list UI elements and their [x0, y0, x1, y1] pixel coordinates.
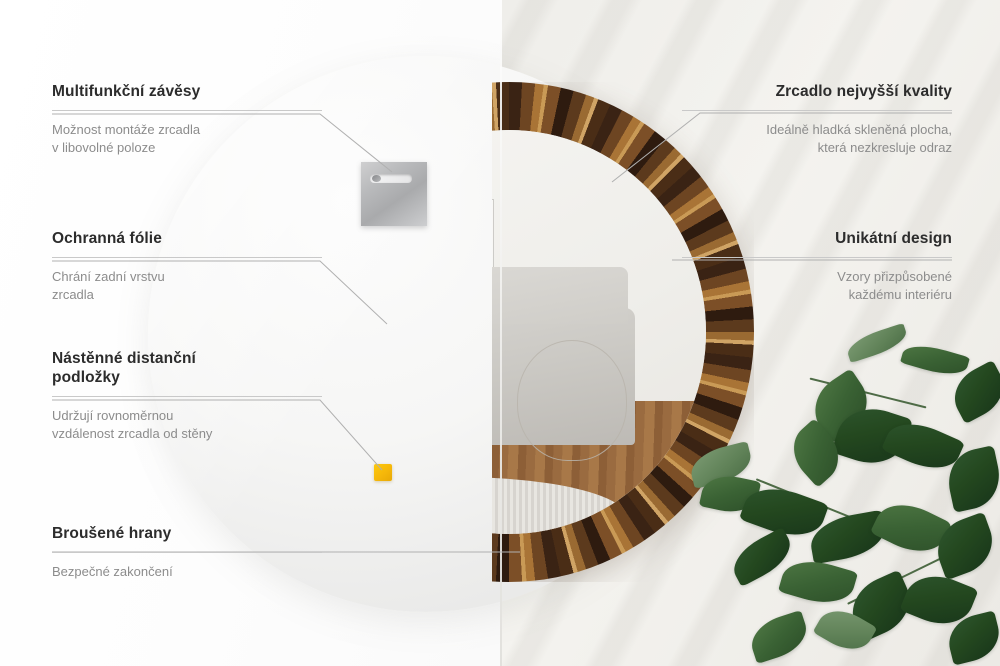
- callout-title: Ochranná fólie: [52, 229, 322, 248]
- callout-brousene-hrany: Broušené hrany Bezpečné zakončení: [52, 524, 322, 581]
- mirror-glass: [492, 130, 706, 534]
- infographic-canvas: Multifunkční závěsy Možnost montáže zrca…: [0, 0, 1000, 666]
- callout-body: Chrání zadní vrstvu zrcadla: [52, 268, 322, 304]
- callout-body-line-2: vzdálenost zrcadla od stěny: [52, 426, 212, 441]
- callout-body: Vzory přizpůsobené každému interiéru: [682, 268, 952, 304]
- callout-body-line-1: Bezpečné zakončení: [52, 564, 173, 579]
- callout-body-line-1: Ideálně hladká skleněná plocha,: [766, 122, 952, 137]
- callout-body-line-2: zrcadla: [52, 287, 94, 302]
- reflected-chair-outline: [517, 340, 627, 461]
- callout-body-line-1: Vzory přizpůsobené: [837, 269, 952, 284]
- hanger-plate-marker: [361, 162, 427, 226]
- leaf: [746, 610, 813, 664]
- callout-rule: [682, 110, 952, 111]
- callout-rule: [52, 110, 322, 111]
- callout-title-line-2: podložky: [52, 369, 120, 386]
- callout-body-line-1: Možnost montáže zrcadla: [52, 122, 200, 137]
- callout-body-line-2: v libovolné poloze: [52, 140, 155, 155]
- callout-multifunkcni-zavesy: Multifunkční závěsy Možnost montáže zrca…: [52, 82, 322, 157]
- callout-unikatni-design: Unikátní design Vzory přizpůsobené každé…: [682, 229, 952, 304]
- callout-rule: [52, 396, 322, 397]
- panel-divider: [500, 0, 502, 666]
- callout-body: Možnost montáže zrcadla v libovolné polo…: [52, 121, 322, 157]
- spacer-pad-marker: [374, 464, 392, 481]
- callout-body: Ideálně hladká skleněná plocha, která ne…: [682, 121, 952, 157]
- callout-body-line-1: Udržují rovnoměrnou: [52, 408, 173, 423]
- callout-rule: [682, 257, 952, 258]
- callout-body-line-2: která nezkresluje odraz: [818, 140, 952, 155]
- callout-body-line-2: každému interiéru: [849, 287, 952, 302]
- callout-title: Unikátní design: [682, 229, 952, 248]
- callout-rule: [52, 257, 322, 258]
- callout-rule: [52, 552, 322, 553]
- callout-title: Zrcadlo nejvyšší kvality: [682, 82, 952, 101]
- callout-body-line-1: Chrání zadní vrstvu: [52, 269, 165, 284]
- callout-title: Multifunkční závěsy: [52, 82, 322, 101]
- leaf: [900, 339, 970, 380]
- callout-title: Broušené hrany: [52, 524, 322, 543]
- callout-title: Nástěnné distanční podložky: [52, 349, 322, 387]
- keyhole-slot-icon: [370, 174, 412, 183]
- callout-body: Udržují rovnoměrnou vzdálenost zrcadla o…: [52, 407, 322, 443]
- callout-zrcadlo-nejvyssi-kvality: Zrcadlo nejvyšší kvality Ideálně hladká …: [682, 82, 952, 157]
- foliage-decoration: [690, 330, 1000, 666]
- callout-ochranna-folie: Ochranná fólie Chrání zadní vrstvu zrcad…: [52, 229, 322, 304]
- callout-title-line-1: Nástěnné distanční: [52, 350, 196, 367]
- callout-nastenne-distancni-podlozky: Nástěnné distanční podložky Udržují rovn…: [52, 349, 322, 443]
- callout-body: Bezpečné zakončení: [52, 563, 322, 581]
- leaf: [778, 553, 858, 611]
